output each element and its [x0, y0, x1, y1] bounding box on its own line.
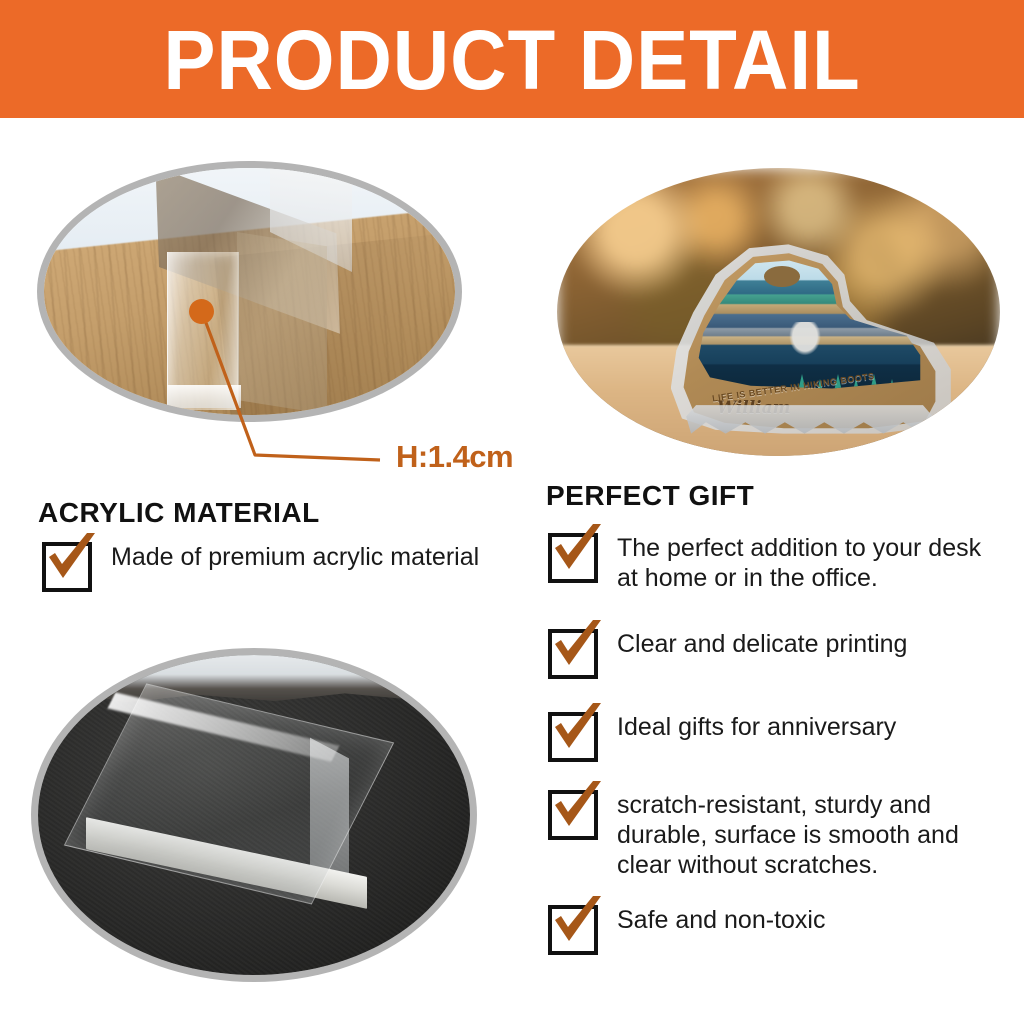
checkbox-checked[interactable] — [42, 542, 92, 592]
photo-boot-plaque-image: LIFE IS BETTER IN HIKING BOOTS William — [557, 168, 1000, 456]
check-icon — [43, 533, 99, 585]
sun-graphic — [764, 266, 800, 287]
bullet-label: Clear and delicate printing — [617, 629, 907, 659]
section-title-perfect-gift: PERFECT GIFT — [546, 480, 754, 512]
check-icon — [549, 896, 605, 948]
photo-acrylic-square-oval — [38, 655, 470, 975]
bullet-label: Safe and non-toxic — [617, 905, 825, 935]
hiker-silhouette — [787, 322, 823, 358]
checkbox-checked[interactable] — [548, 629, 598, 679]
photo-boot-plaque-oval: LIFE IS BETTER IN HIKING BOOTS William — [557, 168, 1000, 456]
bullet-label: scratch-resistant, sturdy and durable, s… — [617, 790, 1000, 880]
checkbox-checked[interactable] — [548, 790, 598, 840]
callout-anchor-dot — [189, 299, 214, 324]
checkbox-checked[interactable] — [548, 905, 598, 955]
bullet-perfect-gift-3: scratch-resistant, sturdy and durable, s… — [548, 790, 1000, 880]
product-detail-page: PRODUCT DETAIL H:1.4cm — [0, 0, 1024, 1024]
check-icon — [549, 620, 605, 672]
bullet-acrylic-material-0: Made of premium acrylic material — [42, 542, 512, 592]
checkbox-checked[interactable] — [548, 533, 598, 583]
bullet-perfect-gift-2: Ideal gifts for anniversary — [548, 712, 996, 762]
check-icon — [549, 703, 605, 755]
bullet-perfect-gift-4: Safe and non-toxic — [548, 905, 996, 955]
checkbox-checked[interactable] — [548, 712, 598, 762]
photo-acrylic-square-image — [38, 655, 470, 975]
bullet-label: Made of premium acrylic material — [111, 542, 479, 572]
boot-shaped-plaque: LIFE IS BETTER IN HIKING BOOTS William — [681, 252, 938, 431]
bullet-perfect-gift-1: Clear and delicate printing — [548, 629, 996, 679]
check-icon — [549, 524, 605, 576]
section-title-acrylic-material: ACRYLIC MATERIAL — [38, 497, 320, 529]
bullet-label: Ideal gifts for anniversary — [617, 712, 896, 742]
height-callout-label: H:1.4cm — [396, 439, 513, 475]
bullet-perfect-gift-0: The perfect addition to your desk at hom… — [548, 533, 996, 593]
bullet-label: The perfect addition to your desk at hom… — [617, 533, 996, 593]
page-title: PRODUCT DETAIL — [36, 16, 988, 104]
check-icon — [549, 781, 605, 833]
